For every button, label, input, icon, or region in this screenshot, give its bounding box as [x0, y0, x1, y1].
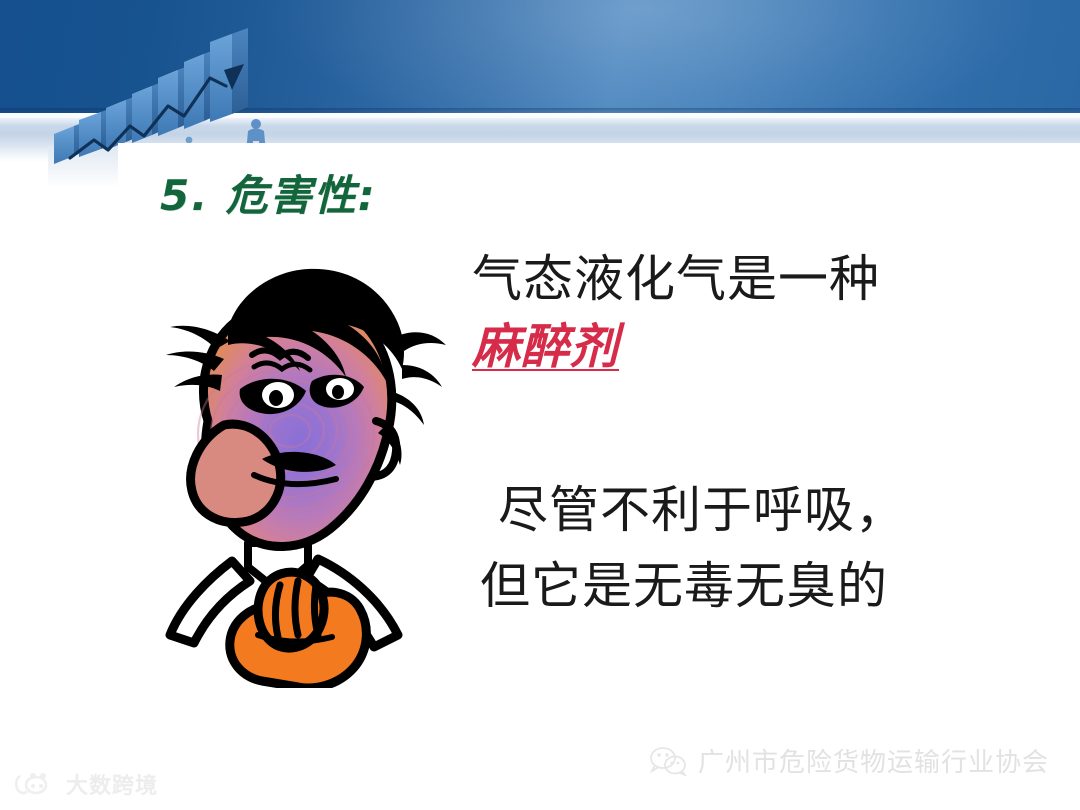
body-line-1: 气态液化气是一种	[472, 248, 992, 310]
body-line-4: 但它是无毒无臭的	[480, 548, 1018, 624]
footer-watermark-right: 广州市危险货物运输行业协会	[648, 742, 1049, 779]
cartoon-man-illustration	[112, 243, 452, 688]
footer-association-name: 广州市危险货物运输行业协会	[698, 742, 1049, 779]
slide-canvas: 5. 危害性:	[0, 0, 1080, 810]
wechat-icon	[648, 746, 688, 776]
dashukuajing-logo-icon	[12, 770, 58, 798]
page-title: 5. 危害性:	[160, 162, 377, 223]
footer-source-name: 大数跨境	[66, 768, 158, 800]
body-text-bottom: 尽管不利于呼吸， 但它是无毒无臭的	[498, 472, 1018, 624]
body-line-3: 尽管不利于呼吸，	[498, 472, 1018, 548]
footer-watermark-left: 大数跨境	[12, 768, 158, 800]
body-text-top: 气态液化气是一种 麻醉剂	[472, 248, 992, 376]
body-highlight-anesthetic: 麻醉剂	[472, 318, 619, 376]
